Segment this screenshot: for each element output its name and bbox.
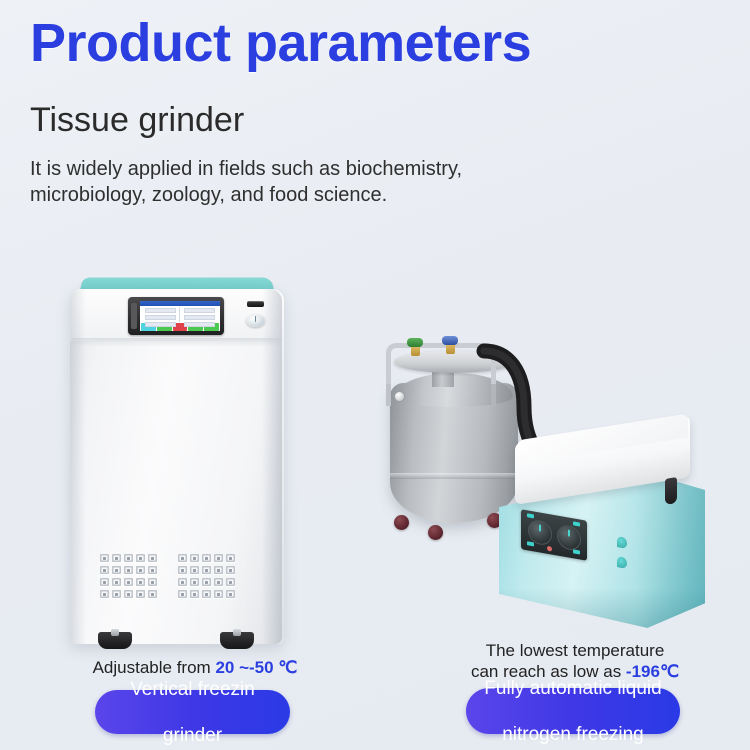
dewar-caster: [428, 525, 443, 540]
screen-field: [145, 315, 176, 320]
badge-left-line-2: grinder: [122, 724, 263, 747]
screen-field: [184, 315, 215, 320]
power-button-icon: [246, 314, 265, 327]
grinder-touchscreen-bezel: [128, 297, 224, 335]
valve-knob-blue: [442, 336, 458, 345]
control-knob-right: [557, 524, 581, 552]
badge-fully-automatic-liquid-nitrogen-freezing[interactable]: Fully automatic liquid nitrogen freezing: [466, 688, 680, 734]
panel-indicator: [527, 541, 534, 546]
screen-param-column-left: [145, 308, 176, 329]
product-description: It is widely applied in fields such as b…: [30, 156, 630, 208]
foot-left: [98, 632, 132, 649]
description-line-1: It is widely applied in fields such as b…: [30, 158, 462, 180]
vent-grille-left: [100, 554, 157, 600]
badge-vertical-freezing-grinder[interactable]: Vertical freezin grinder: [95, 690, 290, 734]
left-product-caption: Adjustable from 20 ~-50 ℃: [60, 657, 330, 678]
ln2-lid-handle-notch: [665, 477, 677, 505]
panel-indicator: [573, 521, 580, 526]
valve-blue: [446, 343, 455, 354]
screen-field: [184, 308, 215, 313]
grinder-touchscreen-display: [140, 301, 220, 331]
panel-indicator: [527, 513, 534, 518]
dewar-pressure-gauge-icon: [394, 391, 405, 402]
page-title: Product parameters: [30, 12, 531, 74]
usb-port-icon: [247, 301, 264, 307]
screen-field: [184, 322, 215, 327]
valve-knob-green: [407, 338, 423, 347]
badge-right-text: Fully automatic liquid nitrogen freezing: [468, 677, 677, 746]
screen-param-column-right: [184, 308, 215, 329]
panel-indicator: [573, 549, 580, 554]
caption-prefix: Adjustable from: [93, 658, 216, 677]
screen-side-tab: [131, 303, 137, 329]
vent-grille-right: [178, 554, 235, 600]
product-parameters-banner: Product parameters Tissue grinder It is …: [0, 0, 750, 750]
product-subtitle: Tissue grinder: [30, 101, 244, 140]
caption-temperature-value: 20 ~-50 ℃: [215, 658, 297, 677]
screen-parameter-area: [140, 306, 220, 323]
grinder-panel-seam: [72, 338, 282, 347]
badge-right-line-1: Fully automatic liquid: [476, 677, 669, 700]
valve-green: [411, 345, 420, 356]
grinder-ventilation-grilles: [100, 554, 235, 600]
badge-right-line-2: nitrogen freezing: [476, 723, 669, 746]
liquid-nitrogen-freezing-machine-image: [495, 425, 725, 640]
foot-right: [220, 632, 254, 649]
screen-field: [145, 322, 176, 327]
badge-left-text: Vertical freezin grinder: [114, 678, 271, 747]
dewar-caster: [394, 515, 409, 530]
screen-column-divider: [179, 307, 180, 322]
description-line-2: microbiology, zoology, and food science.: [30, 182, 630, 208]
vertical-freezing-grinder-image: [62, 272, 290, 652]
caption-line-1: The lowest temperature: [486, 641, 665, 660]
panel-indicator-red: [547, 546, 552, 552]
screen-field: [145, 308, 176, 313]
badge-left-line-1: Vertical freezin: [122, 678, 263, 701]
